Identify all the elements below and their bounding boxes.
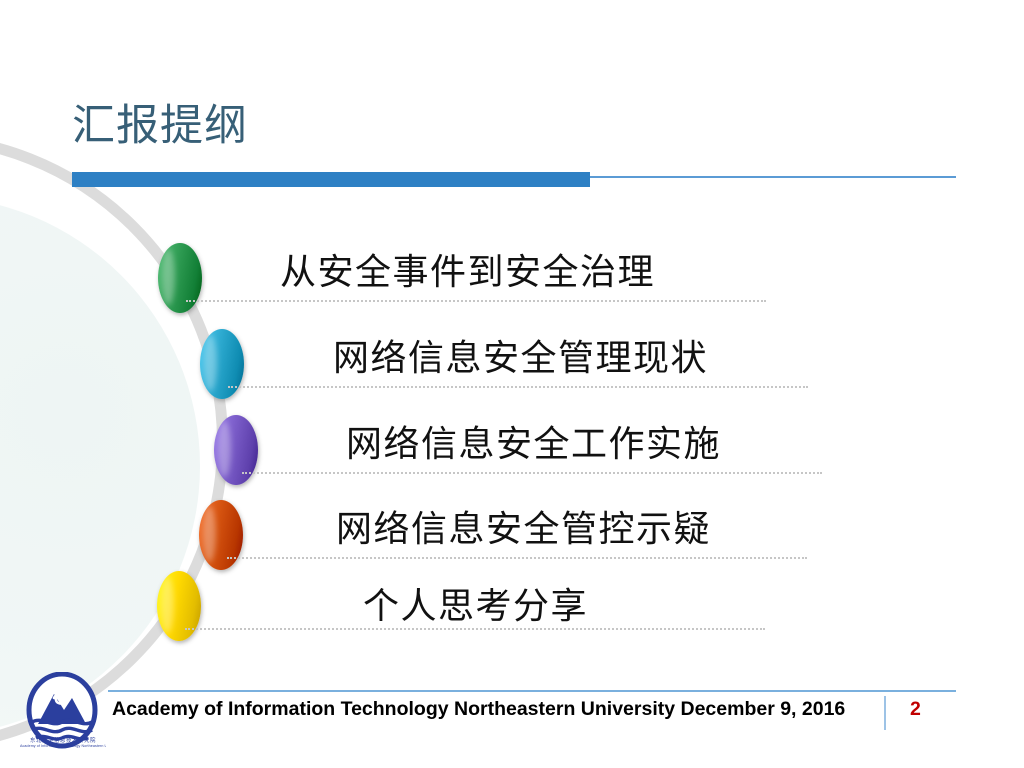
- presentation-slide: 汇报提纲 从安全事件到安全治理 网络信息安全管理现状 网络信息安全工作实施 网络…: [0, 0, 1024, 768]
- footer-text: Academy of Information Technology Northe…: [112, 698, 845, 721]
- outline-item-2-leader: [228, 386, 808, 388]
- decorative-arc: [0, 120, 240, 766]
- decorative-arc-stroke: [0, 132, 228, 752]
- page-number: 2: [910, 698, 921, 721]
- logo-caption-english: Academy of Information Technology Northe…: [20, 744, 106, 748]
- logo-caption-chinese: 东北大学信息技术研究院: [20, 736, 106, 744]
- footer-rule: [108, 690, 956, 692]
- bullet-yellow-icon: [157, 571, 201, 641]
- bullet-green-icon: [158, 243, 202, 313]
- outline-item-1-leader: [186, 300, 766, 302]
- outline-item-4-label: 网络信息安全管控示疑: [336, 500, 711, 552]
- footer-separator: [884, 696, 886, 730]
- outline-item-5-label: 个人思考分享: [363, 577, 588, 629]
- outline-item-5-leader: [185, 628, 765, 630]
- outline-item-1-label: 从安全事件到安全治理: [280, 243, 655, 295]
- page-title: 汇报提纲: [72, 103, 248, 150]
- outline-item-2-label: 网络信息安全管理现状: [333, 329, 708, 381]
- outline-item-3-leader: [242, 472, 822, 474]
- bullet-cyan-icon: [200, 329, 244, 399]
- outline-item-3-label: 网络信息安全工作实施: [346, 415, 721, 467]
- bullet-purple-icon: [214, 415, 258, 485]
- bullet-orange-icon: [199, 500, 243, 570]
- outline-item-4-leader: [227, 557, 807, 559]
- title-underline-thick: [72, 172, 590, 187]
